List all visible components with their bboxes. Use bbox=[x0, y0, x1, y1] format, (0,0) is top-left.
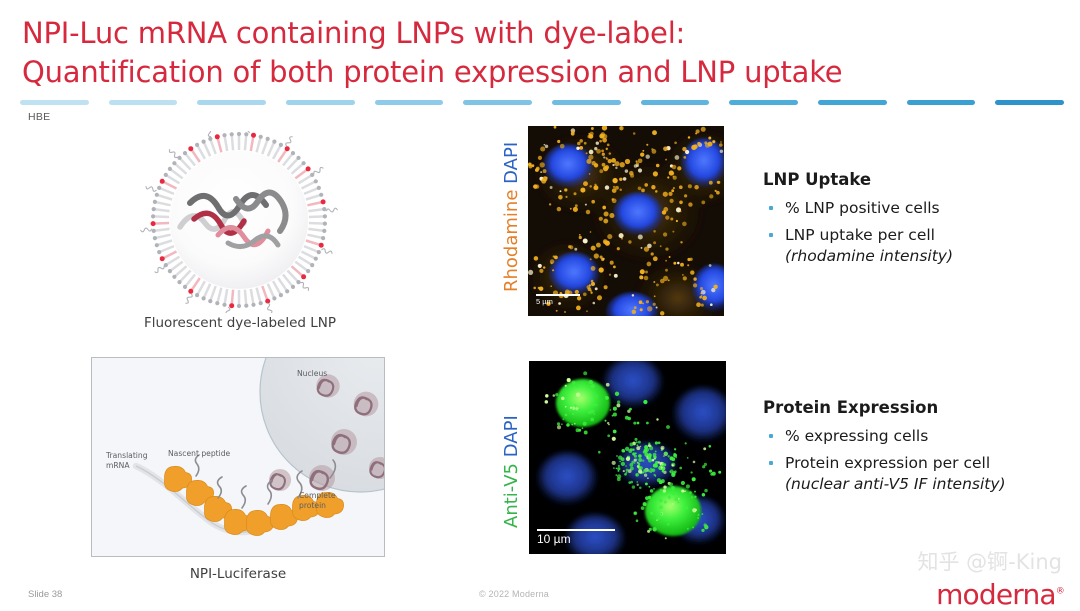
expression-punctum bbox=[607, 434, 610, 437]
expression-punctum bbox=[709, 470, 712, 473]
lnp-punctum bbox=[688, 202, 692, 206]
expression-punctum bbox=[671, 457, 675, 461]
expression-punctum bbox=[698, 514, 700, 516]
lnp-punctum bbox=[590, 290, 592, 292]
lnp-punctum bbox=[599, 217, 603, 221]
expression-punctum bbox=[626, 457, 630, 461]
expression-punctum bbox=[643, 400, 647, 404]
expression-punctum bbox=[584, 431, 588, 435]
peg-chain bbox=[301, 282, 309, 290]
lnp-punctum bbox=[630, 174, 634, 178]
expression-punctum bbox=[661, 466, 663, 468]
expression-punctum bbox=[640, 446, 641, 447]
expression-punctum bbox=[570, 407, 572, 409]
lipid-head bbox=[157, 250, 161, 254]
bullet-subtext: (rhodamine intensity) bbox=[785, 246, 1073, 267]
expression-punctum bbox=[675, 457, 677, 459]
lipid-tail bbox=[309, 216, 325, 217]
lnp-punctum bbox=[640, 152, 644, 156]
dye-marker bbox=[215, 134, 220, 139]
lnp-punctum bbox=[574, 248, 577, 251]
lnp-punctum bbox=[680, 241, 682, 243]
expression-punctum bbox=[687, 457, 689, 459]
lnp-punctum bbox=[663, 232, 667, 236]
lipid-head bbox=[266, 137, 270, 141]
lnp-punctum bbox=[544, 144, 546, 146]
expression-punctum bbox=[653, 488, 655, 490]
lipid-tail bbox=[159, 246, 174, 252]
lnp-punctum bbox=[596, 243, 601, 248]
lnp-punctum bbox=[602, 138, 607, 143]
expression-punctum bbox=[545, 400, 549, 404]
lnp-punctum bbox=[575, 204, 578, 207]
expression-punctum bbox=[636, 474, 637, 475]
lipid-head bbox=[208, 299, 212, 303]
lnp-punctum bbox=[542, 176, 547, 181]
npi-caption: NPI-Luciferase bbox=[90, 566, 386, 582]
lnp-punctum bbox=[528, 270, 533, 275]
lipid-tail bbox=[157, 195, 172, 200]
expression-punctum bbox=[561, 423, 563, 425]
expression-punctum bbox=[656, 519, 657, 520]
lipid-tail bbox=[210, 139, 215, 154]
lnp-punctum bbox=[717, 181, 720, 184]
lipid-head bbox=[306, 269, 310, 273]
expression-punctum bbox=[613, 430, 617, 434]
lipid-head bbox=[215, 301, 219, 305]
expression-punctum bbox=[657, 517, 660, 520]
lnp-punctum bbox=[647, 244, 652, 249]
lnp-punctum bbox=[588, 155, 593, 160]
lnp-punctum bbox=[579, 146, 583, 150]
expression-punctum bbox=[596, 404, 598, 406]
expression-punctum bbox=[632, 449, 634, 451]
expression-punctum bbox=[669, 471, 671, 473]
lipid-tail bbox=[154, 209, 170, 211]
lnp-punctum bbox=[609, 213, 614, 218]
lipid-tail bbox=[204, 142, 211, 157]
lnp-punctum bbox=[625, 159, 630, 164]
lipid-tail bbox=[245, 290, 246, 306]
lnp-punctum bbox=[591, 246, 596, 251]
lipid-head bbox=[259, 301, 263, 305]
lnp-punctum bbox=[570, 208, 572, 210]
lnp-punctum bbox=[538, 156, 542, 160]
lnp-punctum bbox=[665, 269, 668, 272]
lnp-punctum bbox=[668, 279, 670, 281]
lnp-punctum bbox=[608, 159, 612, 163]
expression-punctum bbox=[633, 511, 637, 515]
channel-dapi-bottom: DAPI bbox=[501, 415, 522, 457]
cell-line-label: HBE bbox=[28, 111, 51, 123]
lnp-punctum bbox=[607, 144, 610, 147]
lipid-tail bbox=[245, 134, 246, 150]
lnp-punctum bbox=[652, 130, 657, 135]
expression-punctum bbox=[639, 466, 643, 470]
lnp-punctum bbox=[539, 286, 544, 291]
lnp-punctum bbox=[535, 168, 539, 172]
lnp-punctum bbox=[614, 161, 619, 166]
expression-punctum bbox=[703, 447, 706, 450]
lnp-punctum bbox=[579, 236, 582, 239]
peg-chain bbox=[248, 131, 252, 133]
lnp-punctum bbox=[720, 150, 723, 153]
expression-punctum bbox=[567, 378, 571, 382]
bullet-subtext: (nuclear anti-V5 IF intensity) bbox=[785, 474, 1073, 495]
expression-punctum bbox=[687, 528, 689, 530]
expression-punctum bbox=[624, 473, 627, 476]
lipid-tail bbox=[159, 188, 174, 194]
lnp-punctum bbox=[645, 271, 648, 274]
expression-punctum bbox=[642, 460, 644, 462]
expression-punctum bbox=[633, 422, 636, 425]
lipid-head bbox=[296, 280, 300, 284]
lnp-punctum bbox=[665, 216, 669, 220]
divider-dash bbox=[907, 100, 976, 105]
expression-punctum bbox=[664, 501, 667, 504]
expression-punctum bbox=[637, 465, 640, 468]
expression-punctum bbox=[630, 481, 633, 484]
lipid-tail bbox=[257, 288, 261, 304]
lipid-head bbox=[291, 285, 295, 289]
lipid-tail bbox=[299, 257, 313, 265]
lipid-head bbox=[208, 137, 212, 141]
lipid-head bbox=[155, 193, 159, 197]
expression-punctum bbox=[621, 449, 624, 452]
expression-punctum bbox=[565, 391, 568, 394]
channel-label-top: Rhodamine DAPI bbox=[501, 142, 522, 292]
lnp-punctum bbox=[663, 192, 668, 197]
expression-punctum bbox=[645, 496, 649, 500]
lnp-punctum bbox=[600, 256, 603, 259]
micrograph-protein-expression: 10 µm bbox=[529, 361, 726, 554]
lipid-tail bbox=[262, 139, 267, 154]
lnp-punctum bbox=[712, 140, 715, 143]
expression-punctum bbox=[669, 482, 673, 486]
expression-punctum bbox=[679, 467, 682, 470]
lnp-punctum bbox=[701, 127, 706, 132]
lnp-punctum bbox=[693, 277, 696, 280]
lnp-punctum bbox=[560, 144, 565, 149]
dye-marker bbox=[306, 166, 311, 171]
lnp-punctum bbox=[573, 207, 578, 212]
expression-punctum bbox=[588, 410, 592, 414]
expression-punctum bbox=[621, 457, 625, 461]
lipid-head bbox=[155, 243, 159, 247]
channel-anti-v5: Anti-V5 bbox=[501, 463, 522, 528]
expression-punctum bbox=[710, 473, 713, 476]
lnp-punctum bbox=[677, 166, 681, 170]
lipid-head bbox=[172, 161, 176, 165]
readout-heading: LNP Uptake bbox=[763, 170, 1073, 189]
expression-punctum bbox=[583, 371, 587, 375]
lnp-punctum bbox=[683, 156, 686, 159]
expression-punctum bbox=[617, 467, 620, 470]
readout-heading: Protein Expression bbox=[763, 398, 1073, 417]
lnp-diagram bbox=[132, 131, 347, 313]
expression-punctum bbox=[694, 496, 696, 498]
expression-punctum bbox=[677, 501, 679, 503]
lnp-punctum bbox=[625, 169, 628, 172]
expression-punctum bbox=[613, 407, 617, 411]
lnp-punctum bbox=[680, 211, 682, 213]
brand-underline bbox=[942, 605, 1060, 608]
lnp-punctum bbox=[549, 203, 551, 205]
channel-rhodamine: Rhodamine bbox=[501, 190, 522, 292]
lipid-head bbox=[195, 293, 199, 297]
divider-dash bbox=[20, 100, 89, 105]
scale-bar-top: 5 µm bbox=[536, 294, 580, 306]
expression-punctum bbox=[689, 491, 692, 494]
lnp-caption: Fluorescent dye-labeled LNP bbox=[60, 315, 420, 331]
lipid-head bbox=[177, 156, 181, 160]
expression-punctum bbox=[702, 465, 705, 468]
lnp-punctum bbox=[604, 285, 608, 289]
lipid-tail bbox=[302, 252, 316, 259]
expression-punctum bbox=[650, 468, 652, 470]
lipid-tail bbox=[257, 137, 261, 153]
expression-punctum bbox=[634, 455, 637, 458]
expression-punctum bbox=[663, 489, 666, 492]
lnp-punctum bbox=[591, 282, 595, 286]
expression-punctum bbox=[613, 412, 617, 416]
expression-punctum bbox=[681, 489, 684, 492]
lnp-punctum bbox=[569, 245, 573, 249]
lnp-punctum bbox=[545, 145, 548, 148]
dye-marker bbox=[151, 221, 156, 226]
lnp-punctum bbox=[673, 187, 675, 189]
lipid-head bbox=[202, 296, 206, 300]
lipid-head bbox=[272, 140, 276, 144]
expression-punctum bbox=[645, 482, 648, 485]
lnp-punctum bbox=[697, 142, 701, 146]
lnp-punctum bbox=[672, 172, 675, 175]
expression-punctum bbox=[668, 455, 670, 457]
expression-punctum bbox=[565, 406, 567, 408]
expression-punctum bbox=[636, 519, 639, 522]
lnp-punctum bbox=[531, 164, 534, 167]
lipid-head bbox=[302, 161, 306, 165]
expression-punctum bbox=[643, 502, 647, 506]
expression-punctum bbox=[606, 383, 610, 387]
lnp-punctum bbox=[660, 245, 662, 247]
divider-dash bbox=[995, 100, 1064, 105]
expression-punctum bbox=[661, 446, 665, 450]
readout-bullets: % expressing cells Protein expression pe… bbox=[763, 426, 1073, 495]
lnp-punctum bbox=[640, 269, 645, 274]
lnp-punctum bbox=[583, 292, 587, 296]
slide-number: Slide 38 bbox=[28, 589, 62, 600]
expression-punctum bbox=[690, 471, 692, 473]
expression-punctum bbox=[617, 400, 620, 403]
npi-luciferase-diagram: Translating mRNA Nascent peptide Complet… bbox=[91, 357, 385, 557]
copyright-notice: © 2022 Moderna bbox=[479, 589, 549, 599]
expression-punctum bbox=[628, 449, 632, 453]
lnp-punctum bbox=[646, 144, 648, 146]
lnp-punctum bbox=[594, 253, 599, 258]
expression-punctum bbox=[642, 471, 644, 473]
expression-punctum bbox=[668, 519, 670, 521]
lipid-tail bbox=[251, 289, 254, 305]
expression-punctum bbox=[718, 471, 721, 474]
lnp-punctum bbox=[605, 240, 610, 245]
dye-marker bbox=[160, 179, 165, 184]
expression-punctum bbox=[648, 457, 650, 459]
lipid-head bbox=[164, 173, 168, 177]
lipid-head bbox=[195, 143, 199, 147]
lnp-punctum bbox=[641, 189, 645, 193]
lipid-head bbox=[259, 135, 263, 139]
lipid-tail bbox=[204, 284, 211, 299]
lnp-punctum bbox=[642, 150, 644, 152]
expression-punctum bbox=[695, 509, 697, 511]
expression-punctum bbox=[582, 427, 584, 429]
expression-punctum bbox=[655, 441, 658, 444]
lnp-punctum bbox=[589, 173, 591, 175]
lnp-punctum bbox=[606, 158, 608, 160]
expression-punctum bbox=[561, 397, 564, 400]
lnp-punctum bbox=[680, 263, 684, 267]
expression-punctum bbox=[645, 469, 647, 471]
expression-punctum bbox=[574, 404, 576, 406]
lipid-tail bbox=[232, 134, 233, 150]
lnp-punctum bbox=[552, 269, 554, 271]
micrograph-lnp-uptake: 5 µm bbox=[528, 126, 724, 316]
expression-punctum bbox=[613, 467, 615, 469]
lipid-tail bbox=[306, 195, 321, 200]
lnp-punctum bbox=[613, 186, 615, 188]
lnp-punctum bbox=[540, 146, 545, 151]
peg-chain bbox=[146, 187, 156, 192]
expression-punctum bbox=[626, 469, 629, 472]
lipid-head bbox=[168, 269, 172, 273]
expression-punctum bbox=[634, 438, 637, 441]
lnp-punctum bbox=[565, 196, 567, 198]
lnp-punctum bbox=[595, 287, 598, 290]
expression-punctum bbox=[616, 403, 620, 407]
lnp-punctum bbox=[700, 287, 703, 290]
scale-bar-line bbox=[537, 529, 615, 531]
lnp-punctum bbox=[653, 241, 656, 244]
expression-punctum bbox=[641, 506, 645, 510]
lnp-punctum bbox=[584, 142, 587, 145]
lnp-punctum bbox=[687, 264, 689, 266]
lnp-punctum bbox=[651, 185, 655, 189]
expression-punctum bbox=[658, 441, 661, 444]
lnp-punctum bbox=[591, 127, 594, 130]
expression-punctum bbox=[562, 418, 564, 420]
lnp-punctum bbox=[652, 149, 657, 154]
lnp-punctum bbox=[614, 274, 618, 278]
expression-punctum bbox=[661, 479, 665, 483]
expression-punctum bbox=[665, 537, 667, 539]
expression-punctum bbox=[652, 527, 656, 531]
lnp-punctum bbox=[633, 132, 636, 135]
expression-punctum bbox=[636, 441, 638, 443]
lipid-tail bbox=[153, 216, 169, 217]
lnp-punctum bbox=[655, 190, 658, 193]
lnp-punctum bbox=[580, 188, 585, 193]
svg-text:Complete: Complete bbox=[299, 491, 336, 500]
lipid-head bbox=[322, 207, 326, 211]
divider-dash bbox=[463, 100, 532, 105]
lipid-tail bbox=[197, 281, 205, 295]
expression-punctum bbox=[616, 455, 618, 457]
lnp-punctum bbox=[682, 222, 687, 227]
lnp-punctum bbox=[672, 165, 677, 170]
lnp-punctum bbox=[576, 147, 579, 150]
lnp-punctum bbox=[593, 302, 596, 305]
lnp-punctum bbox=[644, 276, 649, 281]
expression-punctum bbox=[636, 446, 640, 450]
lnp-punctum bbox=[708, 142, 713, 147]
expression-punctum bbox=[660, 513, 662, 515]
expression-punctum bbox=[697, 517, 699, 519]
expression-punctum bbox=[605, 396, 609, 400]
bullet-text: Protein expression per cell bbox=[785, 454, 990, 472]
expression-punctum bbox=[625, 465, 627, 467]
lnp-punctum bbox=[528, 163, 532, 167]
peg-chain bbox=[327, 208, 338, 212]
expression-punctum bbox=[637, 484, 639, 486]
lnp-punctum bbox=[579, 139, 583, 143]
expression-punctum bbox=[648, 458, 652, 462]
lnp-punctum bbox=[543, 266, 545, 268]
dye-marker bbox=[188, 289, 193, 294]
svg-text:Translating: Translating bbox=[105, 451, 148, 460]
lnp-punctum bbox=[583, 239, 588, 244]
bullet-text: % expressing cells bbox=[785, 427, 928, 445]
expression-punctum bbox=[629, 408, 632, 411]
lipid-head bbox=[153, 200, 157, 204]
expression-punctum bbox=[681, 481, 685, 485]
expression-punctum bbox=[653, 455, 655, 457]
lnp-punctum bbox=[709, 264, 712, 267]
lnp-punctum bbox=[656, 307, 658, 309]
expression-punctum bbox=[555, 393, 558, 396]
lnp-punctum bbox=[596, 142, 599, 145]
expression-punctum bbox=[565, 414, 568, 417]
lnp-punctum bbox=[700, 292, 702, 294]
expression-punctum bbox=[621, 462, 625, 466]
page-title: NPI-Luc mRNA containing LNPs with dye-la… bbox=[22, 14, 1032, 92]
lipid-head bbox=[183, 151, 187, 155]
lnp-punctum bbox=[610, 261, 614, 265]
lipid-head bbox=[202, 140, 206, 144]
expression-punctum bbox=[638, 458, 642, 462]
lipid-tail bbox=[268, 142, 275, 157]
expression-punctum bbox=[656, 418, 658, 420]
lipid-head bbox=[279, 143, 283, 147]
lnp-punctum bbox=[638, 234, 643, 239]
lnp-punctum bbox=[653, 281, 655, 283]
lnp-punctum bbox=[576, 306, 581, 311]
lnp-punctum bbox=[719, 143, 723, 147]
expression-punctum bbox=[590, 418, 594, 422]
lnp-punctum bbox=[619, 189, 622, 192]
lnp-punctum bbox=[641, 247, 643, 249]
lnp-punctum bbox=[689, 258, 692, 261]
folded-protein bbox=[309, 465, 335, 491]
expression-punctum bbox=[650, 489, 654, 493]
lnp-punctum bbox=[593, 185, 598, 190]
lnp-punctum bbox=[594, 184, 596, 186]
svg-text:mRNA: mRNA bbox=[106, 461, 130, 470]
lnp-punctum bbox=[715, 190, 717, 192]
expression-punctum bbox=[616, 468, 618, 470]
lnp-punctum bbox=[710, 303, 713, 306]
lnp-punctum bbox=[646, 300, 649, 303]
